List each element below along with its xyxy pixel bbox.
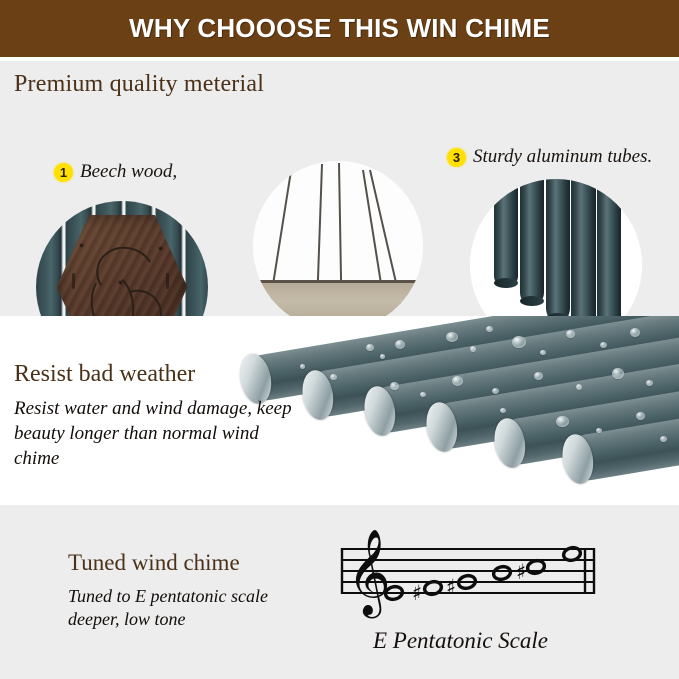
water-droplet-icon — [366, 344, 374, 351]
note-group-4 — [492, 565, 511, 581]
stronger-strings-photo — [253, 161, 423, 331]
page-title: WHY CHOOOSE THIS WIN CHIME — [129, 13, 550, 44]
water-droplet-icon — [500, 408, 506, 413]
water-droplet-icon — [380, 354, 385, 359]
tube-rim — [491, 416, 529, 470]
section-resist-weather: Resist bad weather Resist water and wind… — [0, 316, 679, 505]
water-droplet-icon — [446, 332, 458, 342]
weather-body: Resist water and wind damage, keep beaut… — [14, 396, 294, 471]
water-droplet-icon — [630, 328, 640, 337]
tuned-heading: Tuned wind chime — [68, 550, 240, 576]
section-premium-material: Premium quality meterial — [0, 61, 679, 316]
nail-icon — [159, 247, 162, 250]
infographic-page: WHY CHOOOSE THIS WIN CHIME Premium quali… — [0, 0, 679, 679]
water-droplet-icon — [420, 392, 426, 397]
svg-text:♯: ♯ — [412, 581, 422, 605]
aluminum-tube — [571, 179, 595, 339]
string-slot — [166, 273, 169, 289]
premium-heading: Premium quality meterial — [14, 71, 264, 98]
badge-number-icon: 3 — [447, 148, 466, 167]
water-droplet-icon — [534, 372, 543, 380]
string-slot — [72, 273, 75, 289]
callout-1-label: Beech wood, — [80, 161, 177, 183]
tube-rim — [361, 384, 399, 438]
svg-text:𝄞: 𝄞 — [347, 529, 391, 619]
callout-3-aluminum-tubes: 3 Sturdy aluminum tubes. — [447, 146, 652, 168]
water-droplet-icon — [486, 326, 493, 332]
tube-rim — [423, 400, 461, 454]
water-droplet-icon — [566, 330, 575, 338]
badge-number-icon: 1 — [54, 163, 73, 182]
water-droplet-icon — [452, 376, 463, 386]
treble-clef-icon: 𝄞 — [347, 529, 391, 619]
note-group-3: ♯ — [446, 574, 477, 599]
note-group-5: ♯ — [516, 559, 546, 584]
aluminum-tube — [520, 179, 544, 305]
water-droplet-icon — [390, 382, 399, 390]
water-droplet-icon — [556, 416, 569, 427]
section-tuned-chime: Tuned wind chime Tuned to E pentatonic s… — [0, 505, 679, 679]
water-droplet-icon — [600, 342, 607, 348]
nail-icon — [80, 244, 83, 247]
water-droplet-icon — [660, 436, 667, 442]
water-droplet-icon — [492, 388, 499, 394]
tube-rim — [559, 432, 597, 486]
staff-svg: 𝄞 ♯ ♯ ♯ — [333, 527, 603, 619]
note-group-2: ♯ — [412, 580, 443, 605]
water-droplet-icon — [576, 384, 582, 390]
aluminum-tube — [546, 179, 570, 322]
water-droplet-icon — [300, 364, 305, 369]
callout-3-label: Sturdy aluminum tubes. — [473, 146, 652, 168]
water-droplet-icon — [470, 346, 476, 352]
header-bar: WHY CHOOOSE THIS WIN CHIME — [0, 0, 679, 57]
music-staff-graphic: 𝄞 ♯ ♯ ♯ — [333, 527, 603, 619]
water-droplet-icon — [395, 340, 405, 349]
water-droplet-icon — [612, 368, 624, 379]
water-droplet-icon — [330, 374, 337, 380]
svg-text:♯: ♯ — [446, 575, 456, 599]
water-droplet-icon — [646, 380, 653, 386]
water-droplet-icon — [596, 428, 602, 433]
water-droplet-icon — [636, 412, 645, 420]
tuned-body: Tuned to E pentatonic scale deeper, low … — [68, 585, 318, 632]
svg-text:♯: ♯ — [516, 560, 526, 584]
weather-heading: Resist bad weather — [14, 361, 195, 388]
scale-caption: E Pentatonic Scale — [373, 628, 548, 654]
water-droplet-icon — [512, 336, 526, 348]
callout-1-beech-wood: 1 Beech wood, — [54, 161, 177, 183]
water-droplet-icon — [540, 350, 546, 355]
aluminum-tube — [494, 179, 518, 287]
